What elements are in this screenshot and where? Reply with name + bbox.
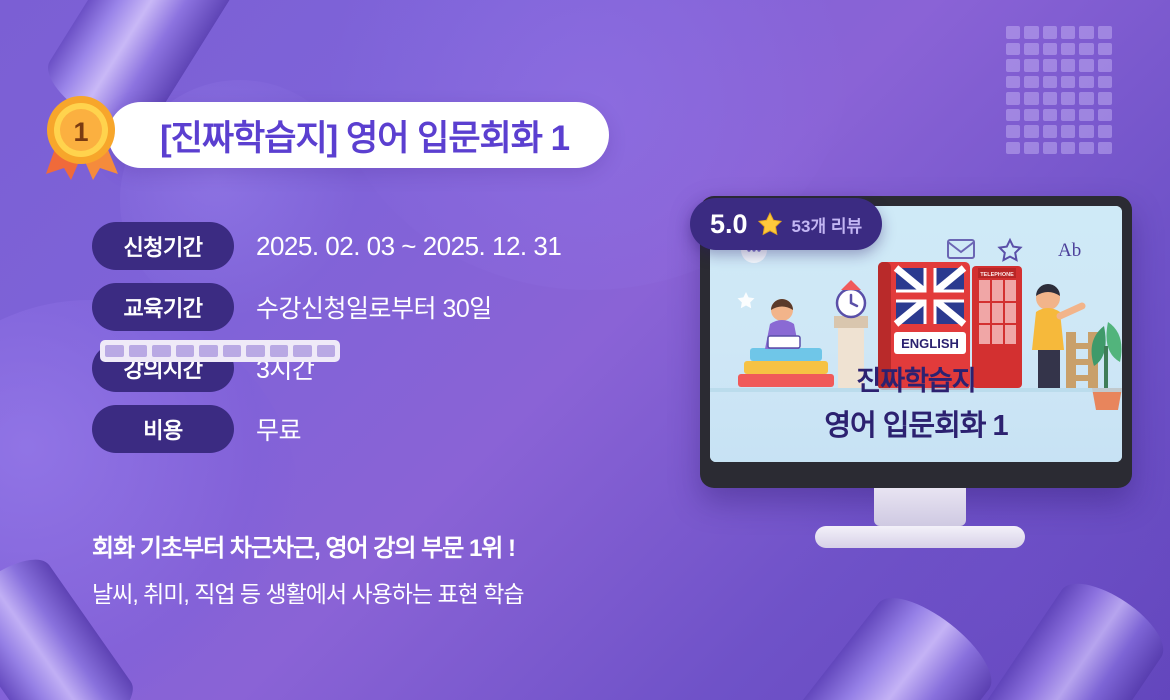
info-label-cost: 비용 xyxy=(92,405,234,453)
info-row: 신청기간 2025. 02. 03 ~ 2025. 12. 31 xyxy=(92,222,561,270)
rating-score: 5.0 xyxy=(710,209,748,240)
star-icon xyxy=(757,211,783,237)
info-value-application-period: 2025. 02. 03 ~ 2025. 12. 31 xyxy=(256,231,561,262)
poster-title: 진짜학습지 영어 입문회화 1 xyxy=(710,359,1122,444)
info-value-cost: 무료 xyxy=(256,411,301,447)
tagline-primary: 회화 기초부터 차근차근, 영어 강의 부문 1위 ! xyxy=(92,528,524,563)
poster-title-line1: 진짜학습지 xyxy=(710,359,1122,398)
poster-book-label: ENGLISH xyxy=(901,336,959,351)
course-title-pill: [진짜학습지] 영어 입문회화 1 xyxy=(108,102,609,168)
svg-text:Ab: Ab xyxy=(1058,240,1081,261)
rating-badge: 5.0 53개 리뷰 xyxy=(690,198,882,250)
decorative-cylinder-bottom-right xyxy=(754,581,1006,700)
page-title: [진짜학습지] 영어 입문회화 1 xyxy=(160,110,569,161)
rating-review-count: 53개 리뷰 xyxy=(792,212,863,237)
monitor-stand xyxy=(815,526,1025,548)
decorative-dot-grid xyxy=(1006,26,1112,154)
poster-title-line2: 영어 입문회화 1 xyxy=(710,402,1122,444)
info-label-education-period: 교육기간 xyxy=(92,283,234,331)
tagline-secondary: 날씨, 취미, 직업 등 생활에서 사용하는 표현 학습 xyxy=(92,575,524,609)
info-row: 비용 무료 xyxy=(92,405,561,453)
tagline-block: 회화 기초부터 차근차근, 영어 강의 부문 1위 ! 날씨, 취미, 직업 등… xyxy=(92,528,524,609)
promo-banner: 1 [진짜학습지] 영어 입문회화 1 신청기간 2025. 02. 03 ~ … xyxy=(0,0,1170,700)
info-label-application-period: 신청기간 xyxy=(92,222,234,270)
decorative-cylinder-bottom-far-right xyxy=(964,569,1170,700)
keyboard-illustration xyxy=(100,340,340,362)
title-row: 1 [진짜학습지] 영어 입문회화 1 xyxy=(40,90,609,180)
medal-rank-1-icon: 1 xyxy=(40,90,124,180)
info-row: 교육기간 수강신청일로부터 30일 xyxy=(92,283,561,331)
poster-phone-label: TELEPHONE xyxy=(980,272,1014,278)
svg-text:1: 1 xyxy=(73,117,88,147)
monitor-neck xyxy=(874,488,966,526)
info-value-education-period: 수강신청일로부터 30일 xyxy=(256,289,492,325)
